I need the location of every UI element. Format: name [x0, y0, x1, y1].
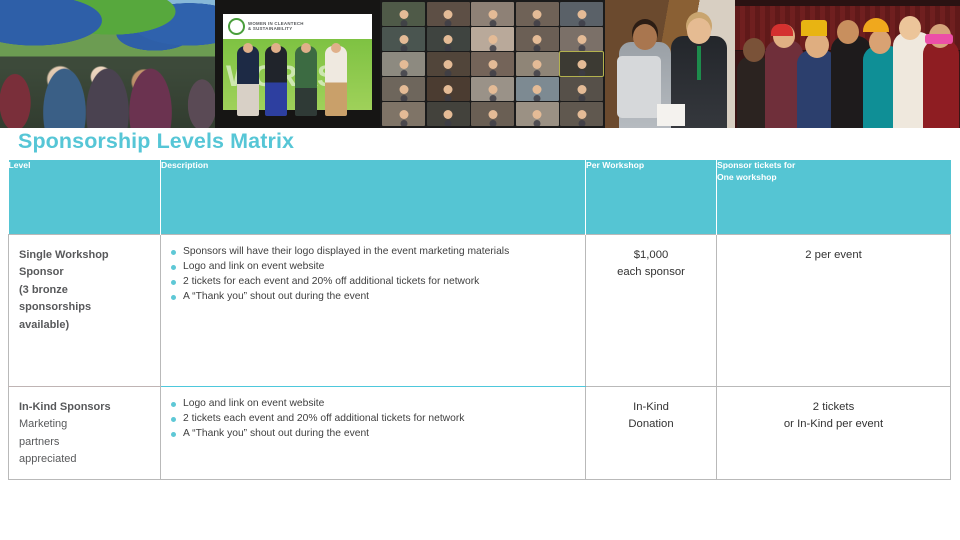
list-item: 2 tickets for each event and 20% off add… [169, 275, 575, 289]
benefit-list: Logo and link on event website 2 tickets… [169, 397, 575, 442]
screen-logo-bar: WOMEN IN CLEANTECH & SUSTAINABILITY [223, 14, 372, 39]
wics-logo-icon [228, 18, 245, 35]
hat-prop [863, 18, 889, 32]
list-item: A “Thank you” shout out during the event [169, 427, 575, 441]
brand-line-2: & SUSTAINABILITY [248, 26, 304, 31]
cell-level: In-Kind Sponsors Marketing partners appr… [9, 386, 161, 479]
table-row: In-Kind Sponsors Marketing partners appr… [9, 386, 951, 479]
page-title: Sponsorship Levels Matrix [18, 129, 294, 154]
cell-sponsor-tickets: 2 per event [717, 234, 951, 386]
price-amount: $1,000 [592, 247, 710, 264]
list-item: A “Thank you” shout out during the event [169, 290, 575, 304]
cell-per-workshop: $1,000 each sponsor [586, 234, 717, 386]
screen-brand-text: WOMEN IN CLEANTECH & SUSTAINABILITY [248, 21, 304, 32]
column-header-description: Description [161, 160, 586, 234]
column-header-sponsor-tickets-line1: Sponsor tickets for [717, 160, 951, 172]
virtual-meeting-grid-photo [380, 0, 605, 128]
slide: WOMEN IN CLEANTECH & SUSTAINABILITY [0, 0, 960, 540]
stage-speakers [237, 42, 355, 116]
table-header: Level Description Per Workshop Sponsor t… [9, 160, 951, 234]
table-row: Single Workshop Sponsor (3 bronze sponso… [9, 234, 951, 386]
table-body: Single Workshop Sponsor (3 bronze sponso… [9, 234, 951, 479]
benefit-list: Sponsors will have their logo displayed … [169, 245, 575, 305]
stage-presentation-photo: WOMEN IN CLEANTECH & SUSTAINABILITY [215, 0, 380, 128]
sponsorship-levels-table: Level Description Per Workshop Sponsor t… [8, 160, 951, 480]
cell-level: Single Workshop Sponsor (3 bronze sponso… [9, 234, 161, 386]
photo-booth-group-photo [735, 0, 960, 128]
cell-description: Logo and link on event website 2 tickets… [161, 386, 586, 479]
table-header-row: Level Description Per Workshop Sponsor t… [9, 160, 951, 234]
tshirt-prop [617, 56, 661, 118]
glasses-prop [925, 34, 953, 44]
list-item: Logo and link on event website [169, 260, 575, 274]
tshirt-award-photo [605, 0, 735, 128]
crown-prop [801, 20, 827, 36]
column-header-sponsor-tickets: Sponsor tickets for One workshop [717, 160, 951, 234]
list-item: Logo and link on event website [169, 397, 575, 411]
cell-per-workshop: In-Kind Donation [586, 386, 717, 479]
price-note: each sponsor [592, 264, 710, 281]
column-header-level: Level [9, 160, 161, 234]
price-note: Donation [592, 416, 710, 433]
list-item: 2 tickets each event and 20% off additio… [169, 412, 575, 426]
red-hat-prop [771, 24, 793, 36]
column-header-sponsor-tickets-line2: One workshop [717, 172, 951, 184]
cell-sponsor-tickets: 2 tickets or In-Kind per event [717, 386, 951, 479]
price-amount: In-Kind [592, 399, 710, 416]
tickets-note: or In-Kind per event [723, 416, 944, 433]
list-item: Sponsors will have their logo displayed … [169, 245, 575, 259]
tickets-value: 2 per event [723, 247, 944, 264]
outdoor-reception-photo [0, 0, 215, 128]
cell-description: Sponsors will have their logo displayed … [161, 234, 586, 386]
column-header-per-workshop: Per Workshop [586, 160, 717, 234]
photo-banner: WOMEN IN CLEANTECH & SUSTAINABILITY [0, 0, 960, 128]
tickets-value: 2 tickets [723, 399, 944, 416]
